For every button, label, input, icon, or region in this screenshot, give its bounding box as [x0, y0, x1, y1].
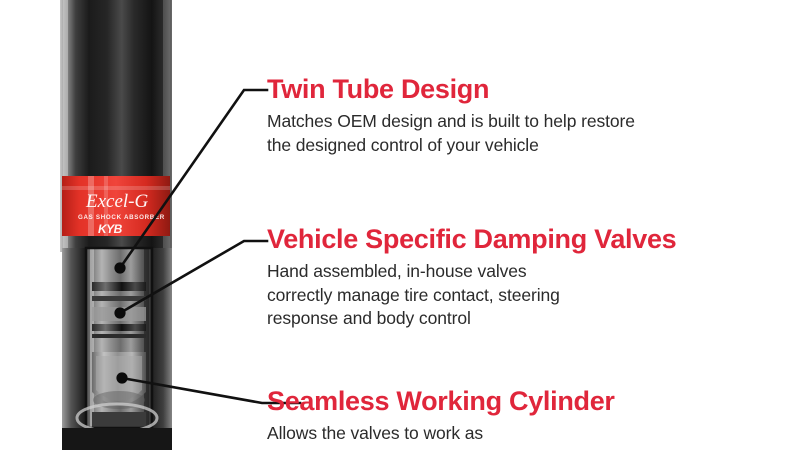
- callout-title: Twin Tube Design: [267, 74, 635, 104]
- shock-absorber-illustration: Excel-G GAS SHOCK ABSORBER KYB: [0, 0, 230, 450]
- callout-body: Allows the valves to work as: [267, 422, 615, 446]
- svg-text:Excel-G: Excel-G: [85, 191, 149, 212]
- shock-absorber-photo: Excel-G GAS SHOCK ABSORBER KYB: [0, 0, 230, 450]
- svg-text:GAS SHOCK ABSORBER: GAS SHOCK ABSORBER: [78, 214, 165, 221]
- callout-seamless-working-cylinder: Seamless Working Cylinder Allows the val…: [267, 386, 615, 446]
- callout-twin-tube-design: Twin Tube Design Matches OEM design and …: [267, 74, 635, 157]
- svg-text:KYB: KYB: [98, 222, 123, 236]
- callout-body: Hand assembled, in-house valves correctl…: [267, 260, 676, 331]
- callout-body: Matches OEM design and is built to help …: [267, 110, 635, 157]
- callout-title: Seamless Working Cylinder: [267, 386, 615, 416]
- callout-title: Vehicle Specific Damping Valves: [267, 224, 676, 254]
- shock-cutaway: [86, 248, 152, 428]
- product-label: Excel-G GAS SHOCK ABSORBER KYB: [62, 176, 170, 236]
- callout-vehicle-specific-damping-valves: Vehicle Specific Damping Valves Hand ass…: [267, 224, 676, 331]
- product-feature-callout-graphic: Excel-G GAS SHOCK ABSORBER KYB: [0, 0, 800, 450]
